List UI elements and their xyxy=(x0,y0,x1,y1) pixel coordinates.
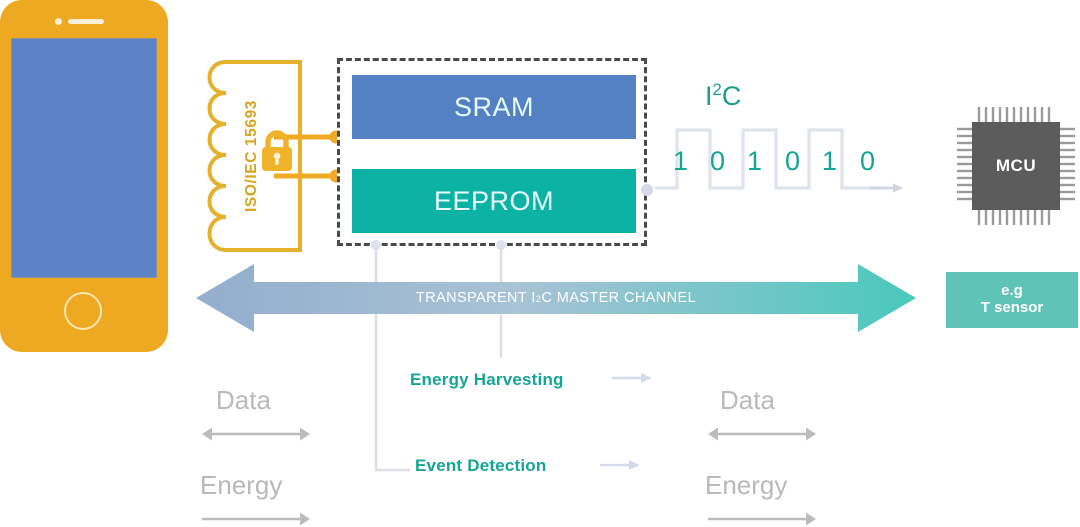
feature-label-event-detection: Event Detection xyxy=(415,456,546,476)
i2c-bit-1: 0 xyxy=(710,146,725,177)
nfc-chip-boundary: SRAM EEPROM xyxy=(337,58,647,246)
sensor-line1: e.g xyxy=(1001,283,1023,300)
sensor-block: e.g T sensor xyxy=(946,272,1078,328)
padlock-icon xyxy=(256,128,298,176)
i2c-label-i: I xyxy=(705,81,713,111)
channel-label: TRANSPARENT I2C MASTER CHANNEL xyxy=(196,262,916,334)
i2c-bit-0: 1 xyxy=(673,146,688,177)
phone-camera-icon xyxy=(55,18,62,25)
left-data-label: Data xyxy=(216,385,271,416)
i2c-bus-label: I2C xyxy=(705,80,741,112)
right-energy-label: Energy xyxy=(705,470,787,501)
i2c-bit-2: 1 xyxy=(747,146,762,177)
memory-block-eeprom: EEPROM xyxy=(352,169,636,233)
energy-harvesting-arrow xyxy=(612,371,654,385)
diagram-canvas: ISO/IEC 15693 SRAM EEPROM I2C xyxy=(0,0,1080,527)
right-data-arrow xyxy=(706,425,818,443)
phone-home-button xyxy=(64,292,102,330)
i2c-bit-4: 1 xyxy=(822,146,837,177)
channel-label-pre: TRANSPARENT I xyxy=(416,290,536,306)
mcu-label: MCU xyxy=(972,122,1060,210)
right-energy-arrow xyxy=(706,510,818,527)
feature-label-energy-harvesting: Energy Harvesting xyxy=(410,370,564,390)
channel-label-post: C MASTER CHANNEL xyxy=(541,290,696,306)
left-data-arrow xyxy=(200,425,312,443)
right-data-label: Data xyxy=(720,385,775,416)
event-detection-arrow xyxy=(600,458,642,472)
i2c-bit-3: 0 xyxy=(785,146,800,177)
chip-output-node xyxy=(640,183,654,197)
i2c-square-wave: 1 0 1 0 1 0 xyxy=(655,122,905,204)
left-energy-arrow xyxy=(200,510,312,527)
sensor-line2: T sensor xyxy=(981,300,1044,317)
mcu-chip: MCU xyxy=(955,105,1077,227)
phone-screen xyxy=(11,38,157,278)
phone-speaker-icon xyxy=(68,19,104,24)
smartphone xyxy=(0,0,168,352)
i2c-label-c: C xyxy=(722,81,742,111)
memory-block-sram: SRAM xyxy=(352,75,636,139)
i2c-label-superscript: 2 xyxy=(713,80,722,99)
i2c-bit-5: 0 xyxy=(860,146,875,177)
left-energy-label: Energy xyxy=(200,470,282,501)
transparent-i2c-master-channel: TRANSPARENT I2C MASTER CHANNEL xyxy=(196,262,916,334)
